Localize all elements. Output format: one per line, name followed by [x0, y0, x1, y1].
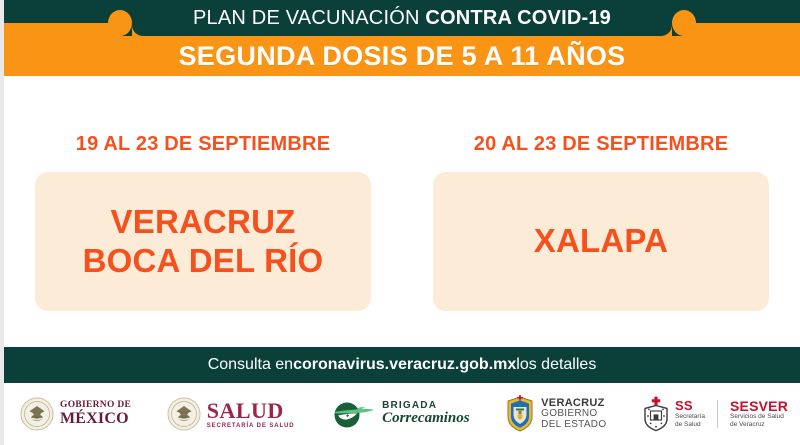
logo-salud: SALUD SECRETARÍA DE SALUD: [167, 397, 295, 431]
roadrunner-bird-icon: [330, 398, 376, 430]
page-subtitle: SEGUNDA DOSIS DE 5 A 11 AÑOS: [4, 36, 800, 76]
salud-line-1: SALUD: [207, 399, 295, 422]
veracruz-estado-line-3: DEL ESTADO: [541, 420, 606, 431]
logo-ss-sesver: SS Secretaría de Salud SESVER Servicios …: [642, 396, 788, 432]
ss-line-3: de Salud: [675, 421, 705, 429]
ss-text: SS Secretaría de Salud: [675, 399, 705, 429]
city-name-line-2: BOCA DEL RÍO: [83, 242, 324, 280]
ss-line-1: SS: [675, 399, 705, 413]
date-label: 20 AL 23 DE SEPTIEMBRE: [474, 133, 728, 156]
page-title: PLAN DE VACUNACIÓN CONTRA COVID-19: [193, 8, 611, 28]
city-card: XALAPA: [433, 172, 769, 311]
salud-eagle-seal-icon: [167, 397, 201, 431]
sesver-line-3: de Veracruz: [730, 421, 788, 429]
logo-brigada-correcaminos: BRIGADA Correcaminos: [330, 398, 470, 430]
header-tab-notch-right: [672, 23, 684, 36]
page-title-bold: CONTRA COVID-19: [425, 7, 611, 29]
city-card: VERACRUZ BOCA DEL RÍO: [35, 172, 371, 311]
website-bar: Consulta en coronavirus.veracruz.gob.mx …: [4, 347, 800, 383]
logo-gobierno-de-mexico: GOBIERNO DE MÉXICO: [20, 397, 131, 431]
vaccination-poster: PLAN DE VACUNACIÓN CONTRA COVID-19 SEGUN…: [0, 0, 800, 445]
logo-strip: GOBIERNO DE MÉXICO SALUD SECRETARÍA DE S…: [4, 383, 800, 445]
date-label: 19 AL 23 DE SEPTIEMBRE: [76, 133, 330, 156]
header-title-tab: PLAN DE VACUNACIÓN CONTRA COVID-19: [132, 0, 672, 36]
website-prefix-text: Consulta en: [208, 356, 293, 374]
sesver-text: SESVER Servicios de Salud de Veracruz: [730, 399, 788, 430]
sesver-line-1: SESVER: [730, 399, 788, 414]
website-suffix-text: los detalles: [516, 356, 596, 374]
page-title-light: PLAN DE VACUNACIÓN: [193, 7, 425, 29]
poster-header: PLAN DE VACUNACIÓN CONTRA COVID-19 SEGUN…: [4, 0, 800, 76]
logo-veracruz-gobierno-del-estado: VERACRUZ GOBIERNO DEL ESTADO: [505, 395, 606, 433]
header-tab-notch-left: [120, 23, 132, 36]
ss-shield-icon: [642, 396, 670, 432]
city-name-line-1: XALAPA: [534, 222, 668, 260]
salud-text: SALUD SECRETARÍA DE SALUD: [207, 399, 295, 429]
website-url[interactable]: coronavirus.veracruz.gob.mx: [293, 356, 516, 374]
veracruz-coat-of-arms-icon: [505, 395, 535, 433]
veracruz-estado-text: VERACRUZ GOBIERNO DEL ESTADO: [541, 398, 606, 431]
schedule-column-xalapa: 20 AL 23 DE SEPTIEMBRE XALAPA: [433, 133, 769, 311]
brigada-line-2: Correcaminos: [382, 411, 470, 427]
gobierno-mexico-text: GOBIERNO DE MÉXICO: [60, 401, 131, 428]
schedule-column-veracruz: 19 AL 23 DE SEPTIEMBRE VERACRUZ BOCA DEL…: [35, 133, 371, 311]
sesver-line-2: Servicios de Salud: [730, 413, 788, 421]
logo-divider: [717, 400, 718, 428]
brigada-text: BRIGADA Correcaminos: [382, 401, 470, 427]
schedule-area: 19 AL 23 DE SEPTIEMBRE VERACRUZ BOCA DEL…: [4, 76, 800, 347]
mexico-eagle-seal-icon: [20, 397, 54, 431]
gobierno-mexico-line-2: MÉXICO: [60, 411, 131, 428]
salud-line-2: SECRETARÍA DE SALUD: [207, 423, 295, 429]
city-name-line-1: VERACRUZ: [111, 203, 296, 241]
ss-line-2: Secretaría: [675, 413, 705, 421]
